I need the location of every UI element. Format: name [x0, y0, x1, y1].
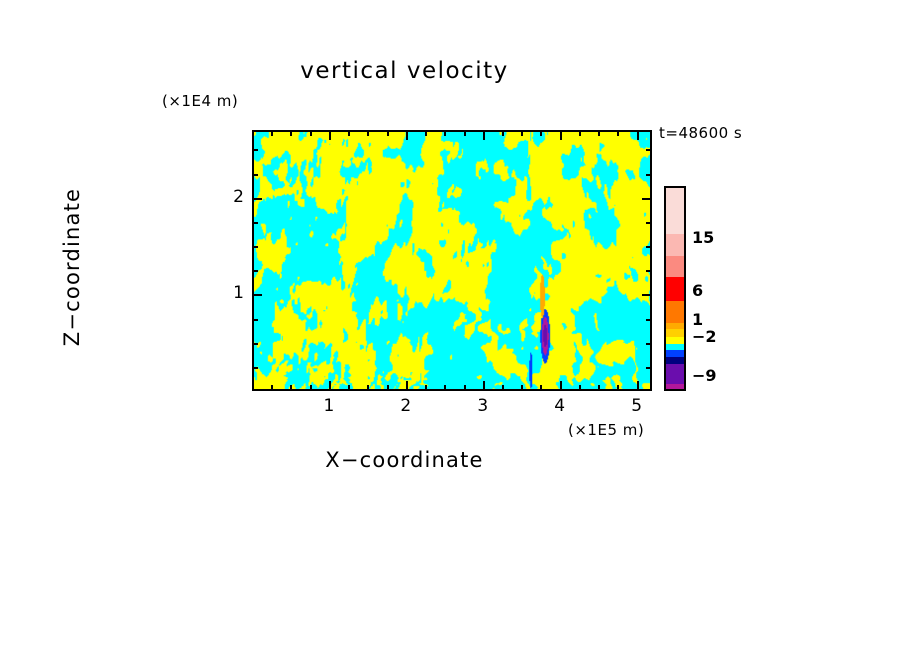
y-axis-units-label: (×1E4 m) [162, 92, 238, 110]
x-tick-label: 2 [391, 396, 421, 416]
x-minor-tick-top [617, 131, 619, 136]
vertical-velocity-field [254, 132, 650, 389]
x-minor-tick-top [290, 131, 292, 136]
colorbar-band [666, 234, 684, 256]
x-major-tick [483, 381, 485, 390]
x-major-tick [637, 381, 639, 390]
x-major-tick [406, 381, 408, 390]
y-major-tick [253, 198, 262, 200]
x-major-tick-top [560, 131, 562, 140]
x-minor-tick-top [540, 131, 542, 136]
y-minor-tick [253, 343, 258, 345]
x-tick-label: 1 [314, 396, 344, 416]
x-minor-tick-top [348, 131, 350, 136]
colorbar-band [666, 277, 684, 301]
x-major-tick-top [483, 131, 485, 140]
y-minor-tick-right [646, 149, 651, 151]
x-minor-tick-top [310, 131, 312, 136]
x-minor-tick [425, 385, 427, 390]
x-minor-tick-top [387, 131, 389, 136]
y-minor-tick [253, 367, 258, 369]
x-minor-tick [367, 385, 369, 390]
colorbar-band [666, 384, 684, 391]
colorbar-band [666, 301, 684, 323]
x-minor-tick-top [521, 131, 523, 136]
y-minor-tick [253, 222, 258, 224]
y-major-tick-right [642, 294, 651, 296]
x-minor-tick [444, 385, 446, 390]
colorbar-tick-label: 6 [692, 281, 703, 300]
x-minor-tick-top [444, 131, 446, 136]
colorbar-band [666, 357, 684, 364]
x-minor-tick-top [367, 131, 369, 136]
x-minor-tick [540, 385, 542, 390]
x-major-tick-top [329, 131, 331, 140]
x-minor-tick [521, 385, 523, 390]
x-minor-tick-top [579, 131, 581, 136]
y-minor-tick [253, 319, 258, 321]
colorbar-band [666, 256, 684, 277]
x-minor-tick [579, 385, 581, 390]
y-major-tick-right [642, 198, 651, 200]
y-minor-tick-right [646, 222, 651, 224]
x-minor-tick-top [271, 131, 273, 136]
x-tick-label: 5 [622, 396, 652, 416]
x-major-tick-top [637, 131, 639, 140]
x-minor-tick [271, 385, 273, 390]
y-minor-tick-right [646, 343, 651, 345]
y-minor-tick [253, 246, 258, 248]
y-major-tick [253, 294, 262, 296]
x-minor-tick [387, 385, 389, 390]
y-minor-tick-right [646, 174, 651, 176]
colorbar-band [666, 364, 684, 384]
colorbar-tick-label: 15 [692, 228, 714, 247]
x-minor-tick-top [464, 131, 466, 136]
x-minor-tick [310, 385, 312, 390]
y-minor-tick-right [646, 319, 651, 321]
colorbar-tick-label: −2 [692, 327, 717, 346]
colorbar-band [666, 350, 684, 357]
x-minor-tick [348, 385, 350, 390]
y-tick-label: 1 [220, 283, 244, 303]
colorbar-band [666, 188, 684, 234]
x-axis-title: X−coordinate [0, 448, 904, 472]
y-axis-title: Z−coordinate [60, 117, 84, 417]
y-minor-tick [253, 270, 258, 272]
x-minor-tick [290, 385, 292, 390]
time-stamp-label: t=48600 s [659, 124, 742, 142]
colorbar-band [666, 337, 684, 344]
x-minor-tick-top [598, 131, 600, 136]
x-axis-units-label: (×1E5 m) [568, 421, 644, 439]
colorbar [664, 186, 686, 391]
figure-canvas: vertical velocity (×1E4 m) (×1E5 m) t=48… [0, 0, 904, 654]
x-minor-tick [502, 385, 504, 390]
x-minor-tick [598, 385, 600, 390]
colorbar-tick-label: −9 [692, 366, 717, 385]
x-major-tick [560, 381, 562, 390]
x-tick-label: 3 [468, 396, 498, 416]
y-minor-tick-right [646, 270, 651, 272]
x-minor-tick [464, 385, 466, 390]
y-minor-tick [253, 174, 258, 176]
y-minor-tick-right [646, 367, 651, 369]
y-tick-label: 2 [220, 187, 244, 207]
x-minor-tick-top [425, 131, 427, 136]
y-minor-tick [253, 149, 258, 151]
colorbar-band [666, 329, 684, 337]
page-title: vertical velocity [0, 58, 904, 84]
y-minor-tick-right [646, 246, 651, 248]
x-major-tick-top [406, 131, 408, 140]
plot-area [252, 130, 652, 391]
x-minor-tick-top [502, 131, 504, 136]
x-major-tick [329, 381, 331, 390]
x-tick-label: 4 [545, 396, 575, 416]
x-minor-tick [617, 385, 619, 390]
